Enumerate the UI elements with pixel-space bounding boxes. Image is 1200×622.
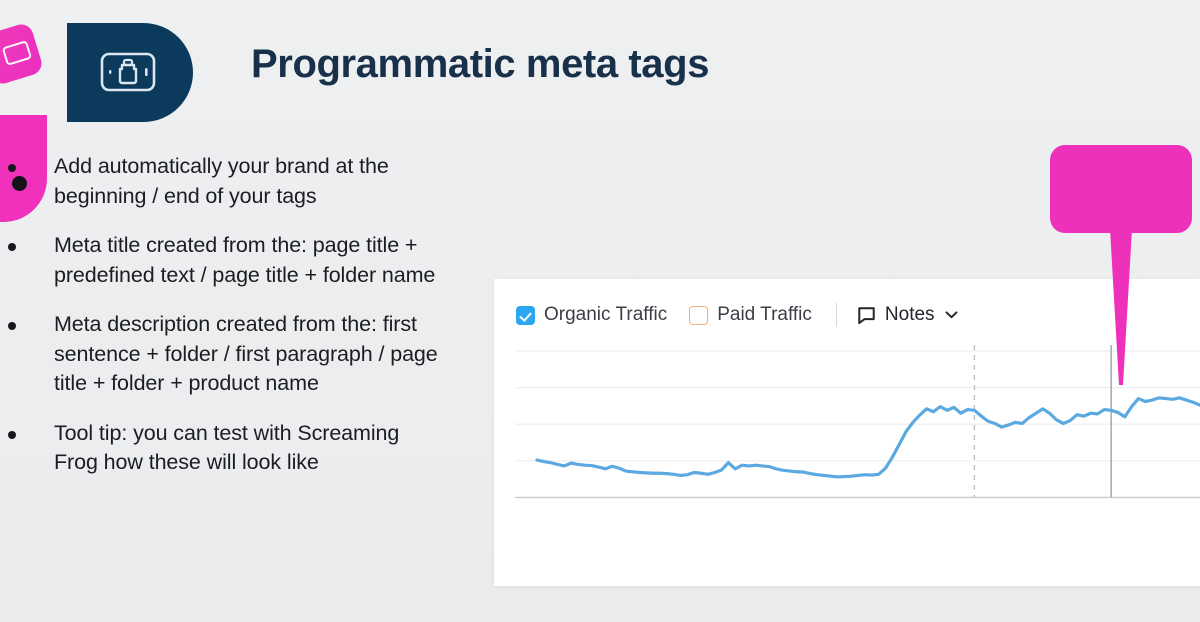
legend-item-organic-traffic[interactable]: Organic Traffic	[516, 304, 667, 326]
organic-traffic-checkbox[interactable]	[516, 306, 535, 325]
bullet-list: Add automatically your brand at the begi…	[8, 152, 438, 498]
slide-header: Programmatic meta tags	[0, 0, 1200, 145]
bullet-text: Meta title created from the: page title …	[54, 231, 438, 290]
bullet-dot-icon	[8, 164, 16, 172]
organic-traffic-label: Organic Traffic	[544, 304, 667, 326]
analytics-chart-card: Organic Traffic Paid Traffic Notes	[494, 279, 1200, 586]
chevron-down-icon[interactable]	[945, 311, 958, 319]
slide-root: Programmatic meta tags Add automatically…	[0, 0, 1200, 622]
bullet-text: Tool tip: you can test with Screaming Fr…	[54, 419, 438, 478]
paid-traffic-label: Paid Traffic	[717, 304, 812, 326]
traffic-line-chart[interactable]	[515, 345, 1200, 570]
legend-divider	[836, 303, 837, 327]
list-item: Tool tip: you can test with Screaming Fr…	[8, 419, 438, 478]
bullet-dot-icon	[8, 243, 16, 251]
comment-bubble-icon	[857, 306, 876, 325]
list-item: Meta title created from the: page title …	[8, 231, 438, 290]
notes-label: Notes	[885, 304, 935, 326]
bullet-dot-icon	[8, 431, 16, 439]
bullet-dot-icon	[8, 322, 16, 330]
page-title: Programmatic meta tags	[251, 42, 709, 87]
notes-dropdown[interactable]: Notes	[857, 304, 958, 326]
legend-item-paid-traffic[interactable]: Paid Traffic	[689, 304, 812, 326]
chart-legend: Organic Traffic Paid Traffic Notes	[516, 301, 958, 329]
bullet-text: Add automatically your brand at the begi…	[54, 152, 438, 211]
paid-traffic-checkbox[interactable]	[689, 306, 708, 325]
bullet-text: Meta description created from the: first…	[54, 310, 438, 399]
list-item: Add automatically your brand at the begi…	[8, 152, 438, 211]
meta-tag-card-icon	[100, 51, 156, 93]
traffic-line-chart-svg	[515, 345, 1200, 570]
list-item: Meta description created from the: first…	[8, 310, 438, 399]
brand-logo-badge	[67, 23, 193, 122]
